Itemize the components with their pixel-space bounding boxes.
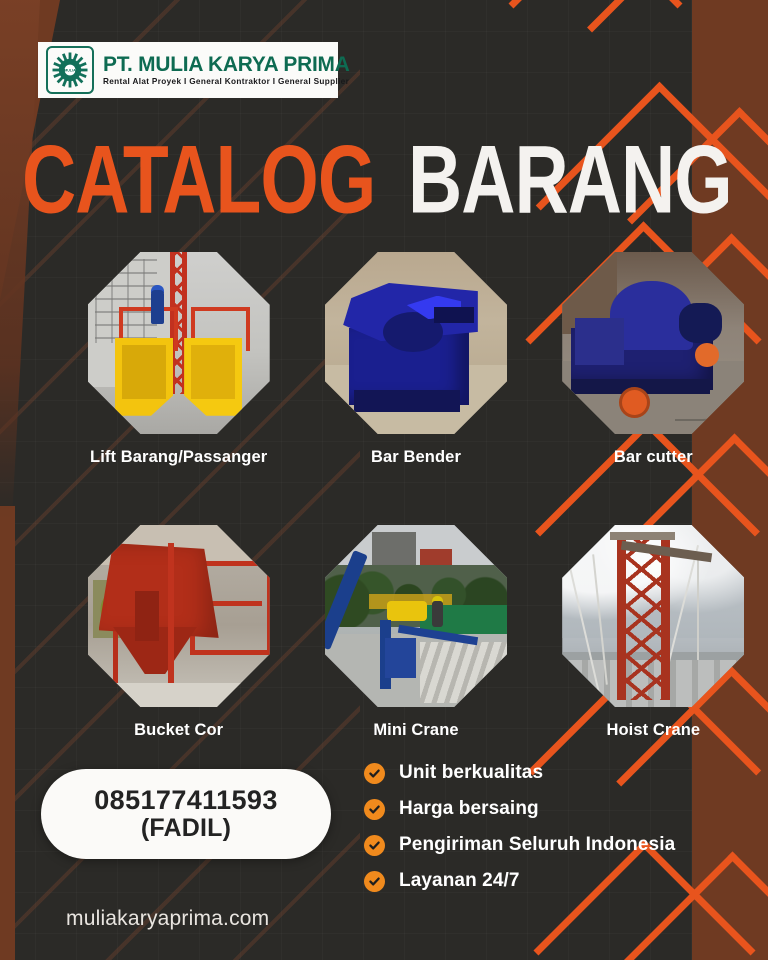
- product-card-hoist-crane[interactable]: Hoist Crane: [539, 525, 768, 740]
- contact-phone-badge[interactable]: 085177411593 (FADIL): [41, 769, 331, 859]
- product-row: Lift Barang/Passanger Bar Bender: [0, 252, 768, 467]
- product-card-lift-barang[interactable]: Lift Barang/Passanger: [64, 252, 293, 467]
- product-card-mini-crane[interactable]: Mini Crane: [301, 525, 530, 740]
- check-circle-icon: [364, 835, 385, 856]
- product-label: Bar Bender: [301, 448, 530, 467]
- check-circle-icon: [364, 871, 385, 892]
- product-label: Bar cutter: [539, 448, 768, 467]
- gear-sun-icon: MULIA: [46, 46, 94, 94]
- benefits-list: Unit berkualitas Harga bersaing Pengirim…: [364, 762, 675, 906]
- logo-company-name: PT. MULIA KARYA PRIMA: [103, 54, 350, 76]
- benefit-item: Pengiriman Seluruh Indonesia: [364, 834, 675, 856]
- svg-text:MULIA: MULIA: [64, 69, 76, 73]
- logo-tagline: Rental Alat Proyek I General Kontraktor …: [103, 78, 357, 86]
- bucket-cor-photo: [88, 525, 270, 707]
- bar-bender-photo: [325, 252, 507, 434]
- phone-number: 085177411593: [94, 786, 278, 815]
- lift-barang-photo: [88, 252, 270, 434]
- benefit-item: Unit berkualitas: [364, 762, 675, 784]
- check-circle-icon: [364, 763, 385, 784]
- page-title: CATALOGBARANG: [22, 131, 749, 210]
- bar-cutter-photo: [562, 252, 744, 434]
- catalog-poster: MULIA PT. MULIA KARYA PRIMA Rental Alat …: [0, 0, 768, 960]
- product-card-bucket-cor[interactable]: Bucket Cor: [64, 525, 293, 740]
- benefit-label: Layanan 24/7: [399, 870, 520, 892]
- product-label: Lift Barang/Passanger: [64, 448, 293, 467]
- product-label: Bucket Cor: [64, 721, 293, 740]
- mini-crane-photo: [325, 525, 507, 707]
- page-title-catalog: CATALOG: [22, 131, 375, 227]
- product-label: Hoist Crane: [539, 721, 768, 740]
- page-title-barang: BARANG: [408, 131, 732, 227]
- product-row: Bucket Cor: [0, 525, 768, 740]
- product-label: Mini Crane: [301, 721, 530, 740]
- website-url[interactable]: muliakaryaprima.com: [66, 907, 269, 931]
- product-card-bar-bender[interactable]: Bar Bender: [301, 252, 530, 467]
- benefit-item: Layanan 24/7: [364, 870, 675, 892]
- benefit-label: Unit berkualitas: [399, 762, 543, 784]
- benefit-item: Harga bersaing: [364, 798, 675, 820]
- contact-person-name: (FADIL): [141, 815, 231, 843]
- benefit-label: Harga bersaing: [399, 798, 539, 820]
- benefit-label: Pengiriman Seluruh Indonesia: [399, 834, 675, 856]
- product-grid: Lift Barang/Passanger Bar Bender: [0, 252, 768, 740]
- check-circle-icon: [364, 799, 385, 820]
- product-card-bar-cutter[interactable]: Bar cutter: [539, 252, 768, 467]
- hoist-crane-photo: [562, 525, 744, 707]
- company-logo: MULIA PT. MULIA KARYA PRIMA Rental Alat …: [38, 42, 338, 98]
